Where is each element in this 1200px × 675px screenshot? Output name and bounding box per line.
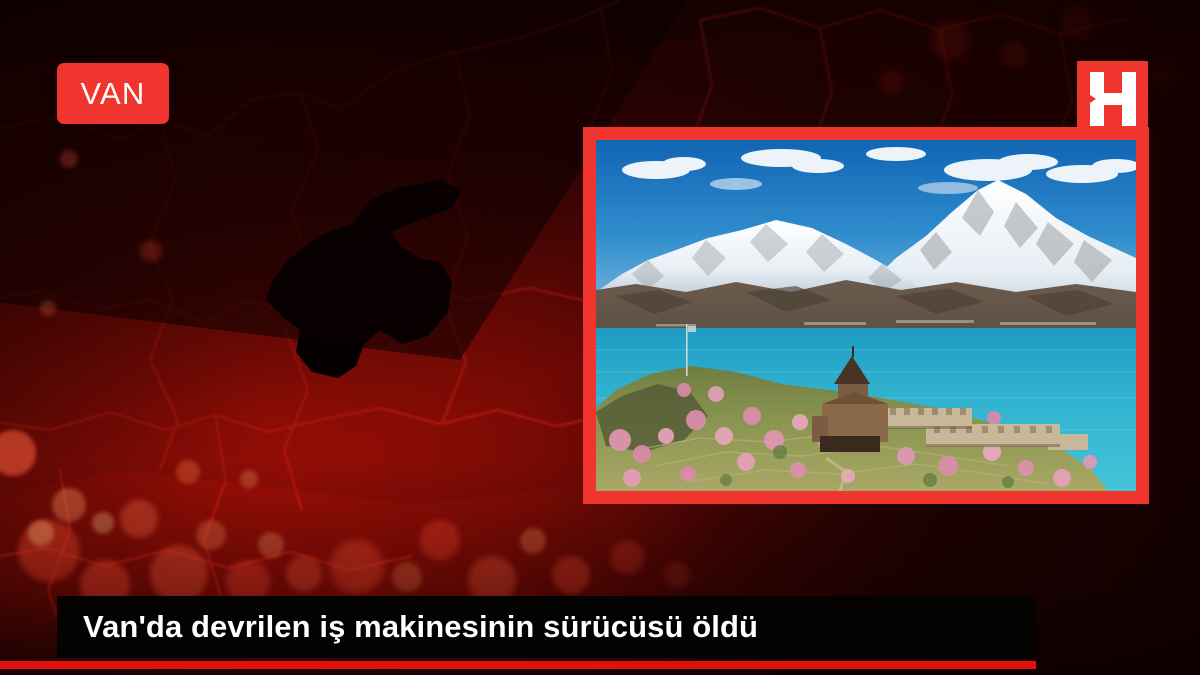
headline-text: Van'da devrilen iş makinesinin sürücüsü … <box>57 609 758 645</box>
photo-card <box>583 127 1149 504</box>
headline-underline-rule <box>0 661 1036 669</box>
news-cover-card: VAN <box>0 0 1200 675</box>
headline-bar: Van'da devrilen iş makinesinin sürücüsü … <box>57 596 1035 658</box>
photo-image <box>596 140 1136 491</box>
province-badge-label: VAN <box>80 78 145 109</box>
haberler-h-logo[interactable] <box>1077 61 1148 136</box>
province-badge: VAN <box>57 63 169 124</box>
